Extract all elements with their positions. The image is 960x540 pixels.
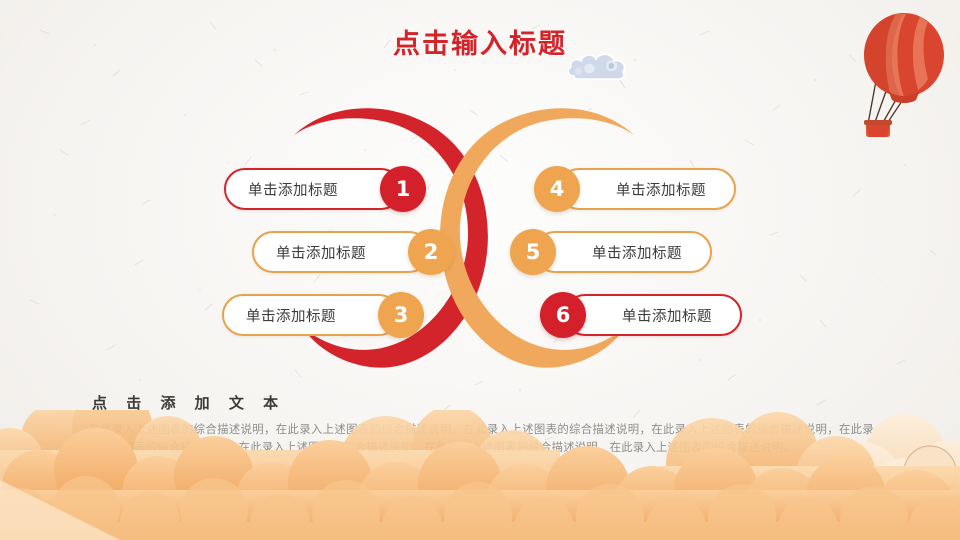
item-4-label: 单击添加标题 xyxy=(616,179,706,200)
page-title: 点击输入标题 xyxy=(0,22,960,61)
item-3-number: 3 xyxy=(378,292,424,338)
auspicious-cloud-icon xyxy=(566,46,628,86)
item-6-pill[interactable]: 单击添加标题 xyxy=(564,294,742,336)
item-5-pill[interactable]: 单击添加标题 xyxy=(534,231,712,273)
slide-canvas: 点击输入标题 xyxy=(0,0,960,540)
item-3-label: 单击添加标题 xyxy=(246,305,336,326)
item-1-number: 1 xyxy=(380,166,426,212)
item-1-pill[interactable]: 单击添加标题 xyxy=(224,168,402,210)
item-6-number: 6 xyxy=(540,292,586,338)
diagram-item-4[interactable]: 单击添加标题 4 xyxy=(540,168,736,210)
footer-paragraph: 在此录入上述图表的综合描述说明，在此录入上述图表的综合描述说明。在此录入上述图表… xyxy=(88,420,874,456)
diagram-item-3[interactable]: 单击添加标题 3 xyxy=(222,294,418,336)
item-2-number: 2 xyxy=(408,229,454,275)
cloud-front-row xyxy=(0,476,960,540)
item-5-label: 单击添加标题 xyxy=(592,242,682,263)
footer-heading: 点 击 添 加 文 本 xyxy=(92,392,285,413)
diagram-item-6[interactable]: 单击添加标题 6 xyxy=(546,294,742,336)
hot-air-balloon-icon xyxy=(848,8,958,143)
item-4-number: 4 xyxy=(534,166,580,212)
diagram-item-2[interactable]: 单击添加标题 2 xyxy=(252,231,448,273)
item-3-pill[interactable]: 单击添加标题 xyxy=(222,294,400,336)
item-1-label: 单击添加标题 xyxy=(248,179,338,200)
item-4-pill[interactable]: 单击添加标题 xyxy=(558,168,736,210)
diagram-item-1[interactable]: 单击添加标题 1 xyxy=(224,168,420,210)
item-5-number: 5 xyxy=(510,229,556,275)
item-2-label: 单击添加标题 xyxy=(276,242,366,263)
diagram-item-5[interactable]: 单击添加标题 5 xyxy=(516,231,712,273)
item-2-pill[interactable]: 单击添加标题 xyxy=(252,231,430,273)
item-6-label: 单击添加标题 xyxy=(622,305,712,326)
